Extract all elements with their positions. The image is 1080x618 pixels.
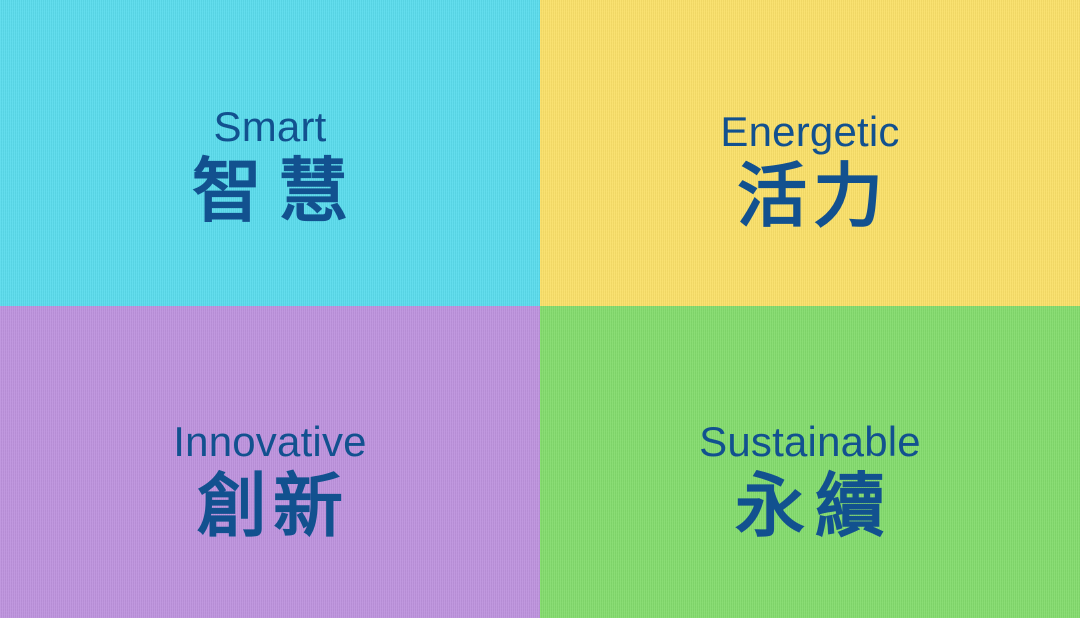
quadrant-innovative[interactable]: Innovative 創新 [0, 306, 540, 618]
quadrant-innovative-english-label: Innovative [173, 421, 366, 463]
quadrant-energetic-chinese-label: 活力 [731, 159, 889, 233]
quadrant-energetic[interactable]: Energetic 活力 [540, 0, 1080, 306]
quadrant-smart-content: Smart 智慧 [176, 106, 364, 228]
quadrant-smart-english-label: Smart [213, 106, 326, 148]
quadrant-sustainable-chinese-label: 永續 [725, 469, 895, 543]
quadrant-smart-chinese-label: 智慧 [176, 154, 364, 228]
quadrant-energetic-content: Energetic 活力 [720, 111, 899, 233]
quadrant-innovative-content: Innovative 創新 [173, 421, 366, 543]
value-grid: Smart 智慧 Energetic 活力 Innovative 創新 Sust… [0, 0, 1080, 618]
quadrant-energetic-english-label: Energetic [720, 111, 899, 153]
quadrant-sustainable-content: Sustainable 永續 [699, 421, 921, 543]
quadrant-innovative-chinese-label: 創新 [191, 469, 349, 543]
quadrant-smart[interactable]: Smart 智慧 [0, 0, 540, 306]
quadrant-sustainable-english-label: Sustainable [699, 421, 921, 463]
quadrant-sustainable[interactable]: Sustainable 永續 [540, 306, 1080, 618]
